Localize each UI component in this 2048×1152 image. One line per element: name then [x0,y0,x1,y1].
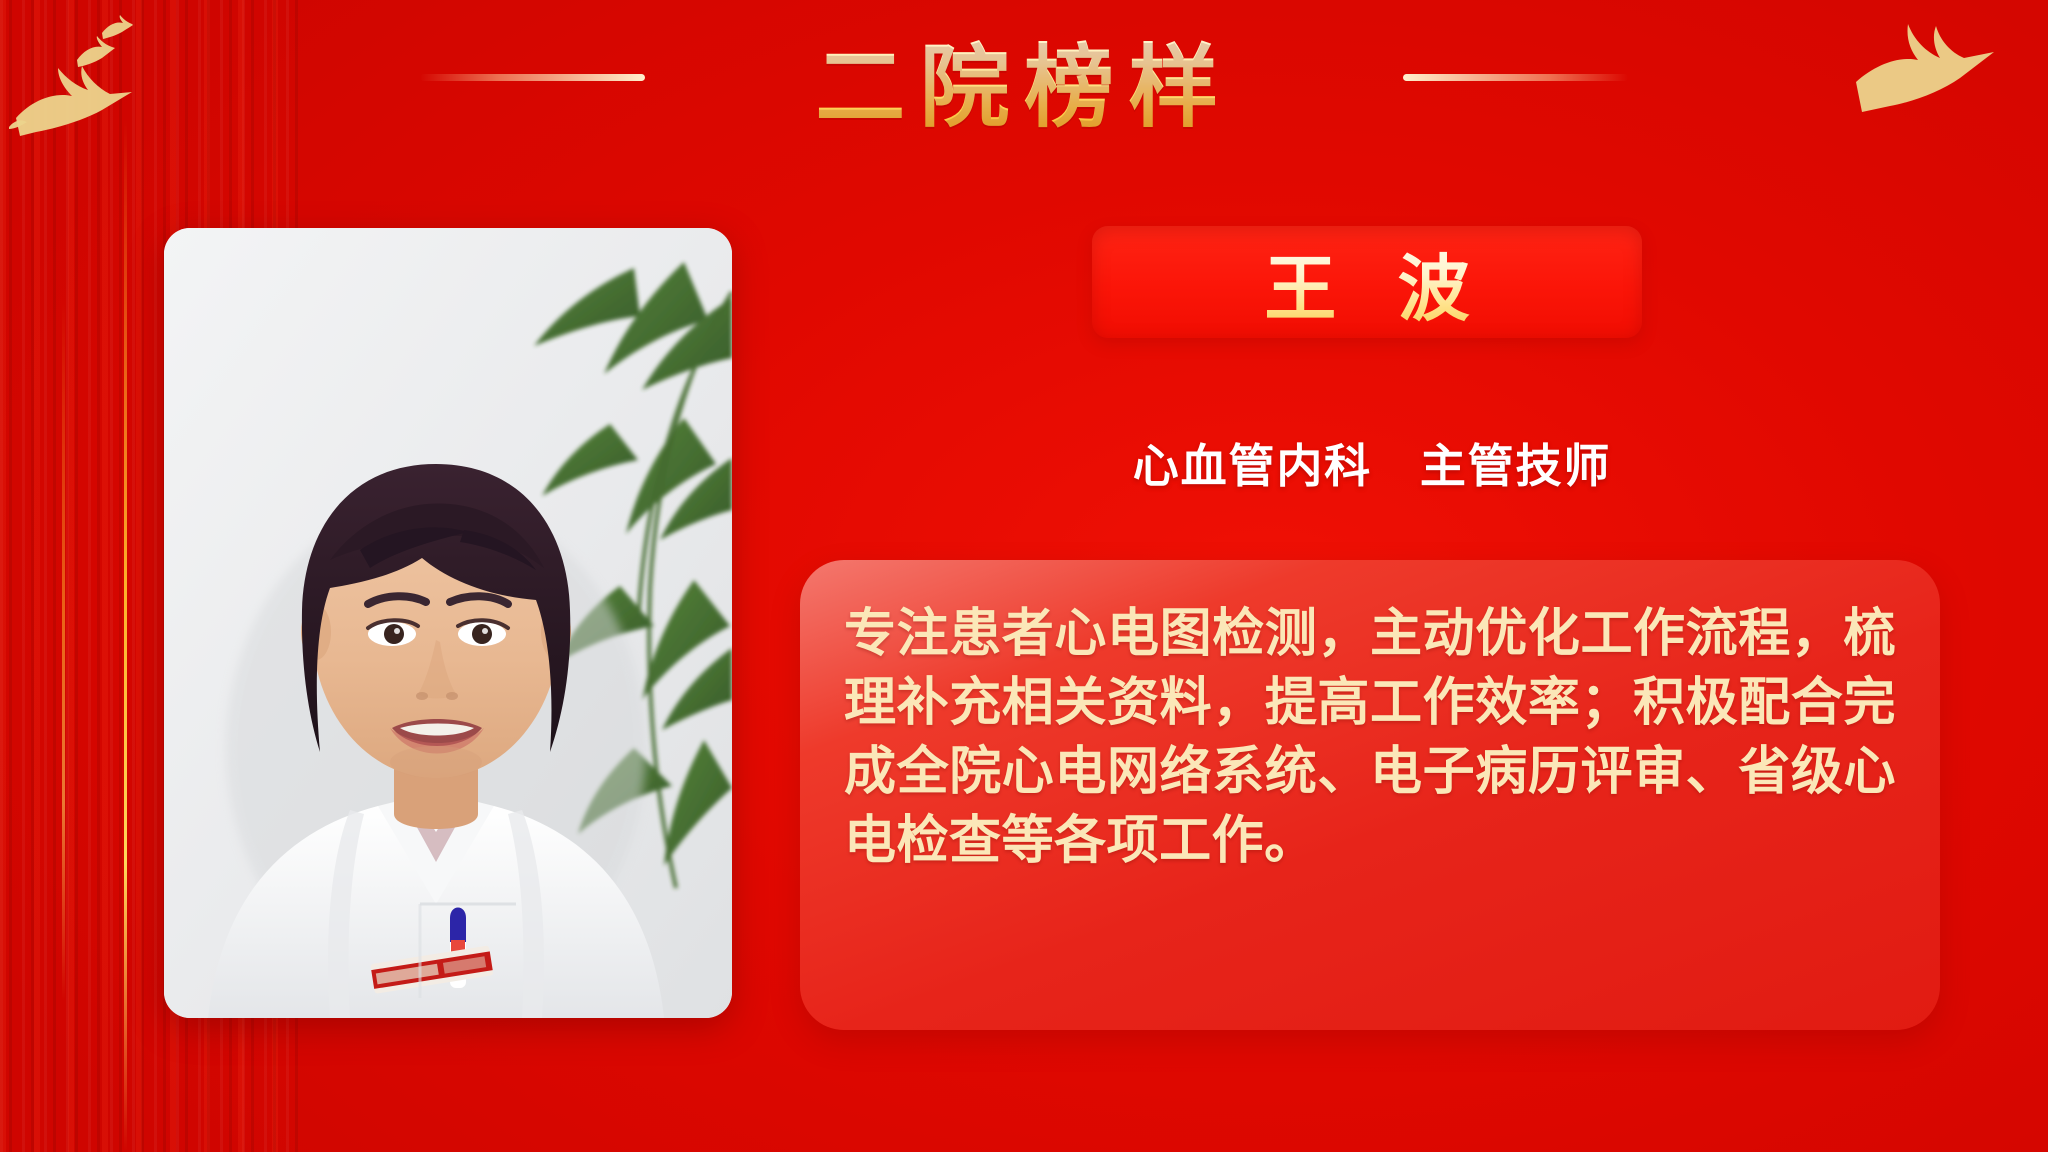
profile-role: 心血管内科 主管技师 [1092,430,1652,496]
profile-photo [164,228,732,1018]
description-card: 专注患者心电图检测，主动优化工作流程，梳理补充相关资料，提高工作效率；积极配合完… [800,560,1940,1030]
profile-name: 王 波 [1243,230,1491,335]
poster-root: 二院榜样 [0,0,2048,1152]
poster-header: 二院榜样 [0,0,2048,140]
gold-vertical-line [124,120,127,1152]
profile-photo-frame [164,228,732,1018]
dove-icon-tiny-left [8,117,28,131]
dove-icon-small-left-2 [100,15,134,41]
description-text: 专注患者心电图检测，主动优化工作流程，梳理补充相关资料，提高工作效率；积极配合完… [844,600,1896,877]
dove-icon-right [1856,20,2006,120]
gold-vertical-line-secondary [62,300,65,1000]
name-banner: 王 波 [1092,226,1642,338]
dove-icon-small-left-1 [74,36,116,70]
page-title: 二院榜样 [0,14,2048,144]
